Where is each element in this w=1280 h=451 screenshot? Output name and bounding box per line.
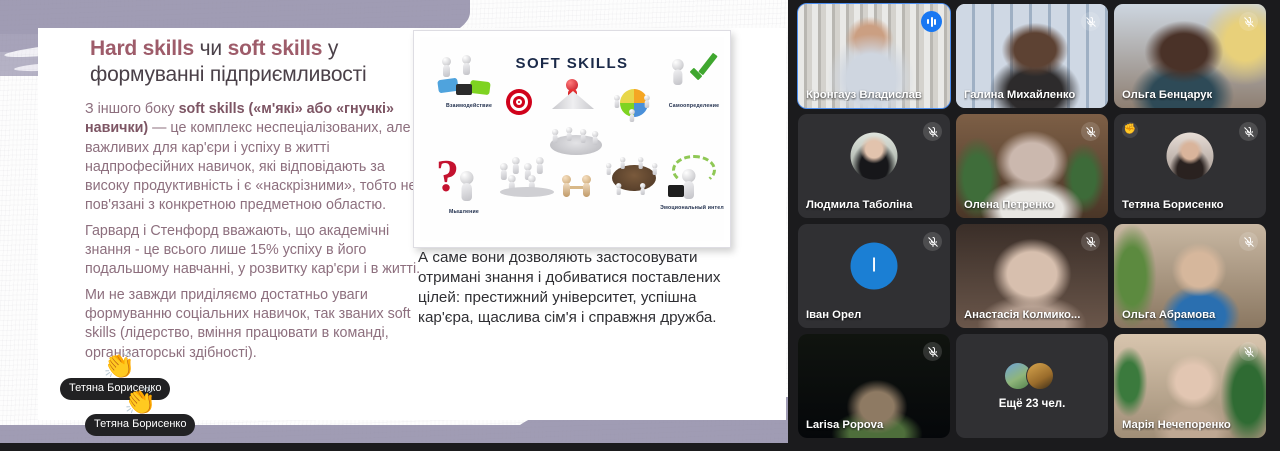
avatar	[1167, 133, 1214, 180]
slide-right-column: А саме вони дозволяють застосовувати отр…	[418, 248, 738, 328]
reaction-name-2: Тетяна Борисенко	[85, 414, 195, 436]
participant-name: Тетяна Борисенко	[1122, 199, 1258, 211]
caption-emotional-intelligence: Эмоциональный интеллект	[660, 205, 724, 211]
avatar	[851, 133, 898, 180]
clapping-hands-icon: 👏	[68, 352, 170, 378]
figure-handshake	[560, 175, 596, 203]
figure-round-table	[606, 159, 662, 201]
clapping-hands-icon-2: 👏	[85, 388, 195, 414]
participant-name: Олена Петренко	[964, 199, 1100, 211]
mic-muted-icon[interactable]	[923, 122, 942, 141]
slide-left-column: З іншого боку soft skills («м'які» або «…	[85, 100, 421, 369]
figure-crowd-center	[548, 129, 604, 157]
participant-name: Галина Михайленко	[964, 89, 1100, 101]
mic-muted-icon[interactable]	[1239, 122, 1258, 141]
figure-crowd	[500, 157, 556, 199]
figure-interaction	[436, 55, 502, 103]
figure-emotional-intelligence	[666, 153, 724, 205]
participant-name: Кронгауз Владислав	[806, 89, 942, 101]
avatar: І	[851, 243, 898, 290]
participant-tile[interactable]: Ольга Абрамова	[1114, 224, 1266, 328]
reaction-overlay-2: 👏 Тетяна Борисенко	[85, 388, 195, 436]
caption-interaction: Взаимодействие	[430, 103, 508, 109]
mic-muted-icon[interactable]	[1081, 12, 1100, 31]
slide-title-conjunction: чи	[200, 37, 222, 60]
mic-muted-icon[interactable]	[1239, 12, 1258, 31]
shared-screen-stage[interactable]: Hard skills чи soft skills у формуванні …	[0, 0, 790, 451]
slide-paragraph-1: З іншого боку soft skills («м'які» або «…	[85, 100, 421, 216]
slide-paragraph-2: Гарвард і Стенфорд вважають, що академіч…	[85, 222, 421, 280]
figure-pie-team	[614, 87, 654, 123]
mic-muted-icon[interactable]	[1081, 122, 1100, 141]
caption-thinking: Мышление	[434, 209, 494, 215]
participant-tile[interactable]: Олена Петренко	[956, 114, 1108, 218]
participant-tile[interactable]: ✊Тетяна Борисенко	[1114, 114, 1266, 218]
participant-tile[interactable]: ІІван Орел	[798, 224, 950, 328]
overflow-avatar-2	[1026, 362, 1054, 390]
participant-name: Ольга Абрамова	[1122, 309, 1258, 321]
mic-muted-icon[interactable]	[1239, 342, 1258, 361]
figure-self-determination	[664, 53, 724, 105]
slide-title-soft-skills: soft skills	[228, 37, 323, 60]
overflow-label: Ещё 23 чел.	[999, 398, 1066, 410]
mic-muted-icon[interactable]	[923, 342, 942, 361]
presentation-slide: Hard skills чи soft skills у формуванні …	[0, 0, 788, 443]
soft-skills-image-inner: SOFT SKILLS Взаимодействие	[420, 37, 724, 241]
participant-tile[interactable]: Галина Михайленко	[956, 4, 1108, 108]
participant-name: Ольга Бенцарук	[1122, 89, 1258, 101]
overflow-avatars	[1004, 362, 1060, 390]
participant-name: Іван Орел	[806, 309, 942, 321]
speaking-indicator-icon	[921, 11, 942, 32]
slide-title-hard-skills: Hard skills	[90, 37, 194, 60]
slide-title: Hard skills чи soft skills у формуванні …	[90, 36, 420, 88]
participant-name: Людмила Таболіна	[806, 199, 942, 211]
caption-self-determination: Самоопределение	[652, 103, 724, 109]
participant-name: Анастасія Колмико...	[964, 309, 1100, 321]
participant-tile[interactable]: Людмила Таболіна	[798, 114, 950, 218]
participant-grid: Кронгауз ВладиславГалина МихайленкоОльга…	[798, 4, 1276, 448]
participant-tile-overflow[interactable]: Ещё 23 чел.	[956, 334, 1108, 438]
soft-skills-image: SOFT SKILLS Взаимодействие	[413, 30, 731, 248]
mic-muted-icon[interactable]	[1239, 232, 1258, 251]
participant-name: Марія Нечепоренко	[1122, 419, 1258, 431]
participant-tile[interactable]: Марія Нечепоренко	[1114, 334, 1266, 438]
figure-leader	[550, 79, 598, 131]
raised-hand-icon: ✊	[1122, 122, 1138, 138]
conference-window: Hard skills чи soft skills у формуванні …	[0, 0, 1280, 451]
participant-tile[interactable]: Кронгауз Владислав	[798, 4, 950, 108]
mic-muted-icon[interactable]	[923, 232, 942, 251]
figure-thinking: ?	[434, 151, 496, 209]
participant-tile[interactable]: Анастасія Колмико...	[956, 224, 1108, 328]
participant-tile[interactable]: Ольга Бенцарук	[1114, 4, 1266, 108]
participant-tile[interactable]: Larisa Popova	[798, 334, 950, 438]
mic-muted-icon[interactable]	[1081, 232, 1100, 251]
participant-name: Larisa Popova	[806, 419, 942, 431]
paragraph-1-lead: З іншого боку	[85, 101, 179, 117]
